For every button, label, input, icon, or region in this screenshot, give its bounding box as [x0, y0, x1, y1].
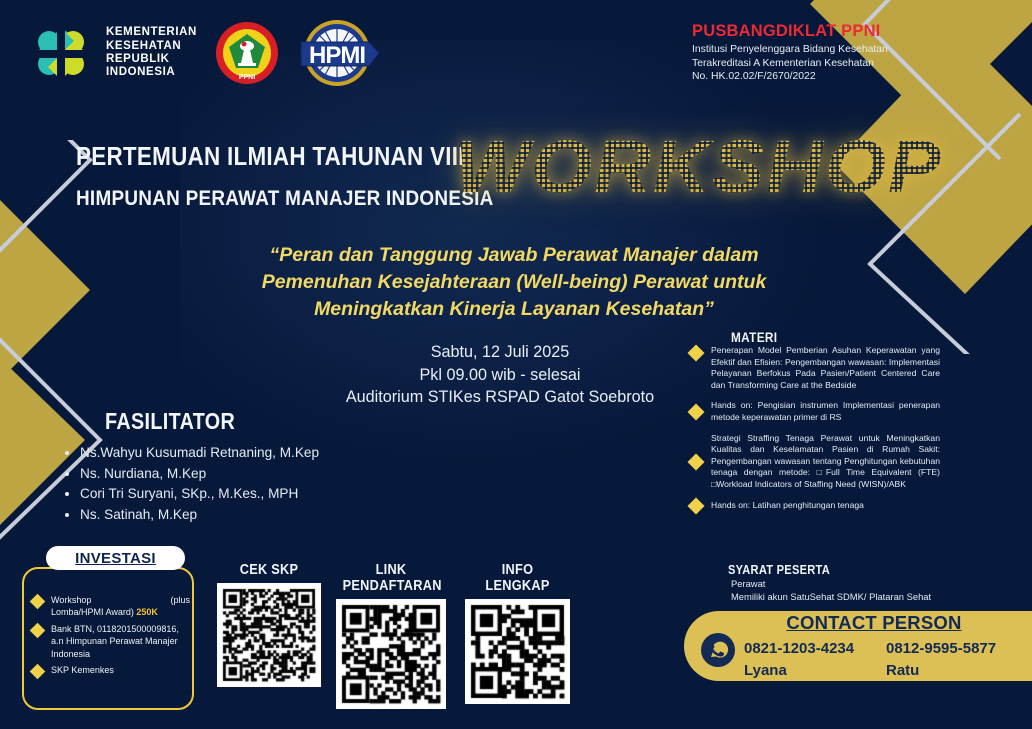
logo-row: KEMENTERIAN KESEHATAN REPUBLIK INDONESIA… [28, 18, 379, 88]
list-item: Hands on: Latihan penghitungan tenaga [690, 500, 940, 512]
materi-title: MATERI [731, 330, 777, 345]
accreditation-block: PUSBANGDIKLAT PPNI Institusi Penyelengga… [692, 22, 942, 84]
list-item: Workshop (plus Lomba/HPMI Award) 250K [32, 594, 190, 619]
materi-text: Penerapan Model Pemberian Asuhan Keperaw… [711, 345, 940, 391]
qr-code-image[interactable] [217, 583, 321, 687]
hpmi-logo: HPMI [297, 18, 379, 88]
schedule-venue: Auditorium STIKes RSPAD Gatot Soebroto [320, 386, 680, 409]
kemenkes-logo-text: KEMENTERIAN KESEHATAN REPUBLIK INDONESIA [106, 26, 197, 80]
list-item: Penerapan Model Pemberian Asuhan Keperaw… [690, 345, 940, 391]
diamond-bullet-icon [688, 497, 705, 514]
ppni-logo: PPNI [215, 21, 279, 85]
qr-code-image[interactable] [465, 599, 570, 704]
syarat-title: SYARAT PESERTA [728, 563, 830, 577]
investasi-skp: SKP Kemenkes [51, 664, 190, 676]
syarat-line: Memiliki akun SatuSehat SDMK/ Plataran S… [731, 591, 931, 604]
fasilitator-title: FASILITATOR [105, 408, 235, 435]
svg-text:PPNI: PPNI [239, 74, 255, 81]
qr-label: CEK SKP [223, 562, 315, 578]
qr-code-image[interactable] [336, 599, 446, 709]
contact-people: 0821-1203-4234 Lyana 0812-9595-5877 Ratu [744, 638, 1014, 682]
whatsapp-icon[interactable] [700, 632, 736, 668]
investasi-bank: Bank BTN, 0118201500009816, a.n Himpunan… [51, 623, 190, 660]
materi-text: Strategi Straffing Tenaga Perawat untuk … [711, 433, 940, 491]
qr-block-info-lengkap: INFO LENGKAP [465, 562, 570, 704]
list-item: Strategi Straffing Tenaga Perawat untuk … [690, 433, 940, 491]
list-item: Ns. Nurdiana, M.Kep [80, 464, 319, 485]
contact-person-1: 0821-1203-4234 Lyana [744, 638, 872, 682]
materi-text: Hands on: Latihan penghitungan tenaga [711, 500, 940, 512]
contact-phone[interactable]: 0821-1203-4234 [744, 638, 872, 660]
accreditation-title: PUSBANGDIKLAT PPNI [692, 22, 942, 41]
list-item: Cori Tri Suryani, SKp., M.Kes., MPH [80, 484, 319, 505]
contact-title: CONTACT PERSON [744, 612, 1004, 634]
investasi-list: Workshop (plus Lomba/HPMI Award) 250K Ba… [32, 594, 190, 681]
kemenkes-mark-icon [28, 20, 94, 86]
list-item: Bank BTN, 0118201500009816, a.n Himpunan… [32, 623, 190, 660]
syarat-body: Perawat Memiliki akun SatuSehat SDMK/ Pl… [731, 578, 931, 603]
fasilitator-list: Ns.Wahyu Kusumadi Retnaning, M.Kep Ns. N… [62, 443, 319, 525]
qr-block-link-pendaftaran: LINK PENDAFTARAN [336, 562, 446, 709]
contact-name: Ratu [886, 660, 1014, 682]
event-title-line2: HIMPUNAN PERAWAT MANAJER INDONESIA [76, 186, 494, 211]
materi-list: Penerapan Model Pemberian Asuhan Keperaw… [690, 345, 940, 521]
list-item: Ns.Wahyu Kusumadi Retnaning, M.Kep [80, 443, 319, 464]
schedule-block: Sabtu, 12 Juli 2025 Pkl 09.00 wib - sele… [320, 341, 680, 409]
diamond-bullet-icon [30, 623, 46, 639]
investasi-item1-left: Workshop [51, 594, 91, 606]
accreditation-line1: Institusi Penyelenggara Bidang Kesehatan [692, 43, 942, 57]
event-theme: “Peran dan Tanggung Jawab Perawat Manaje… [236, 242, 792, 323]
qr-block-cek-skp: CEK SKP [217, 562, 321, 687]
list-item: SKP Kemenkes [32, 664, 190, 677]
diamond-bullet-icon [688, 345, 705, 362]
contact-name: Lyana [744, 660, 872, 682]
investasi-badge: INVESTASI [46, 546, 185, 570]
diamond-bullet-icon [30, 594, 46, 610]
schedule-date: Sabtu, 12 Juli 2025 [320, 341, 680, 364]
accreditation-line2: Terakreditasi A Kementerian Kesehatan [692, 57, 942, 71]
workshop-wordmark: WORKSHOP [455, 124, 943, 209]
investasi-price: 250K [136, 607, 158, 617]
list-item: Hands on: Pengisian instrumen Implementa… [690, 400, 940, 423]
diamond-bullet-icon [30, 664, 46, 680]
contact-person-2: 0812-9595-5877 Ratu [886, 638, 1014, 682]
investasi-item1-right: (plus [170, 594, 190, 606]
kemenkes-logo: KEMENTERIAN KESEHATAN REPUBLIK INDONESIA [28, 20, 197, 86]
event-title-line1: PERTEMUAN ILMIAH TAHUNAN VIII [76, 143, 465, 172]
diamond-bullet-icon [688, 403, 705, 420]
poster-canvas: KEMENTERIAN KESEHATAN REPUBLIK INDONESIA… [0, 0, 1032, 729]
syarat-line: Perawat [731, 578, 931, 591]
diamond-bullet-icon [688, 453, 705, 470]
svg-text:HPMI: HPMI [309, 42, 365, 69]
qr-label: LINK PENDAFTARAN [343, 562, 440, 594]
qr-label: INFO LENGKAP [471, 562, 563, 594]
schedule-time: Pkl 09.00 wib - selesai [320, 364, 680, 387]
materi-text: Hands on: Pengisian instrumen Implementa… [711, 400, 940, 423]
investasi-item1-line2: Lomba/HPMI Award) [51, 607, 134, 617]
contact-phone[interactable]: 0812-9595-5877 [886, 638, 1014, 660]
list-item: Ns. Satinah, M.Kep [80, 505, 319, 526]
accreditation-line3: No. HK.02.02/F/2670/2022 [692, 70, 942, 84]
